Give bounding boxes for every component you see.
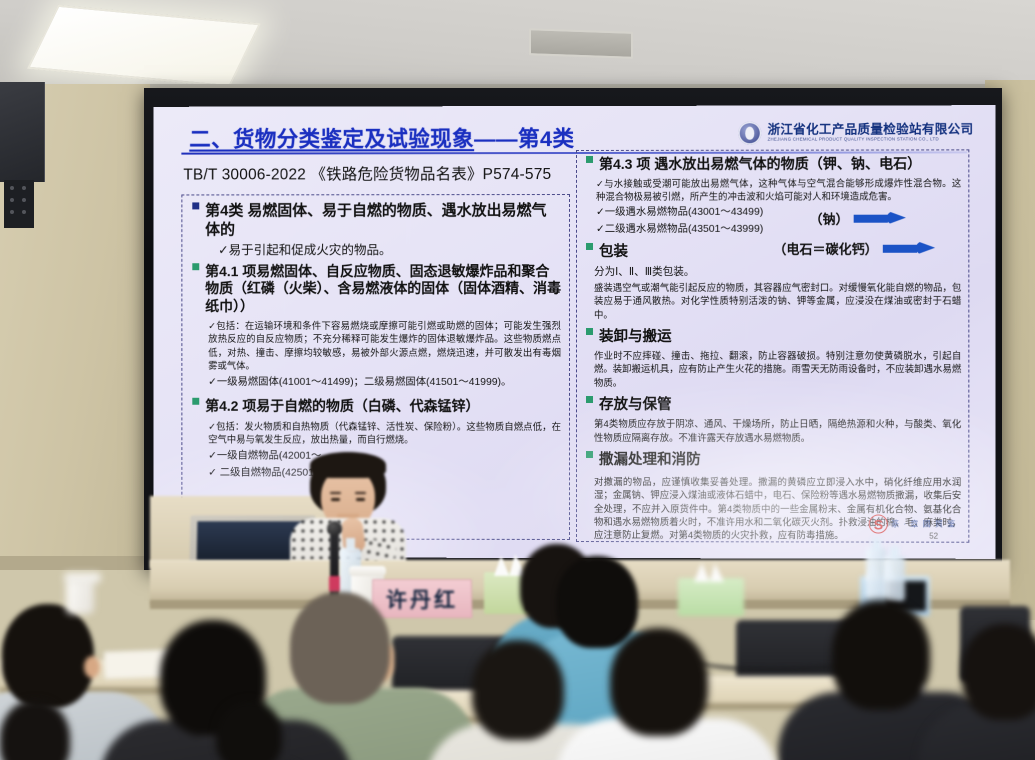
handling-heading: 装卸与搬运: [599, 328, 672, 346]
square-bullet-icon: [192, 263, 199, 270]
item41-ranges: ✓一级易燃固体(41001～41499)；二级易燃固体(41501～41999)…: [208, 375, 561, 391]
square-bullet-icon: [586, 243, 593, 250]
item43-range-grade2: ✓二级遇水易燃物品(43501～43999): [596, 221, 961, 237]
item41-heading: 第4.1 项易燃固体、自反应物质、固态退敏爆炸品和聚合物质（红磷（火柴）、含易燃…: [205, 263, 561, 316]
standard-reference-line: TB/T 30006-2022 《铁路危险货物品名表》P574-575: [183, 162, 551, 184]
carbide-arrow-callout: （电石＝碳化钙）: [773, 239, 935, 258]
square-bullet-icon: [192, 398, 199, 405]
nameplate-text: 许丹红: [386, 584, 458, 614]
sodium-arrow-label: （钠）: [809, 209, 848, 228]
slide-title: 二、货物分类鉴定及试验现象——第4类: [189, 122, 574, 154]
item43-heading: 第4.3 项 遇水放出易燃气体的物质（钾、钠、电石）: [599, 155, 921, 173]
wall-speaker-icon: [0, 82, 45, 182]
speaker-mount-bracket: [4, 180, 34, 228]
class4-heading-row: 第4类 易燃固体、易于自燃的物质、遇水放出易燃气体的: [192, 202, 561, 239]
slide-page-number: 52: [929, 532, 938, 541]
right-arrow-icon: [854, 211, 906, 226]
logo-emblem-icon: [738, 122, 761, 145]
square-bullet-icon: [586, 451, 593, 458]
class4-heading: 第4类 易燃固体、易于自燃的物质、遇水放出易燃气体的: [205, 202, 561, 239]
sodium-arrow-callout: （钠）: [809, 209, 905, 228]
item43-detail: ✓与水接触或受潮可能放出易燃气体，这种气体与空气混合能够形成爆炸性混合物。这种混…: [596, 176, 961, 203]
storage-heading-row: 存放与保管: [586, 396, 961, 414]
presenter-fringe: [310, 452, 386, 478]
spill-heading: 撒漏处理和消防: [599, 451, 701, 469]
right-arrow-icon: [883, 241, 935, 256]
red-seal-stamp: S 篆 · 章 國 貿 鉴: [869, 514, 956, 533]
logo-name-cn: 浙江省化工产品质量检验站有限公司: [768, 124, 974, 138]
item41-heading-row: 第4.1 项易燃固体、自反应物质、固态退敏爆炸品和聚合物质（红磷（火柴）、含易燃…: [192, 263, 561, 316]
presentation-slide: 二、货物分类鉴定及试验现象——第4类 浙江省化工产品质量检验站有限公司 ZHEJ…: [154, 105, 996, 559]
tea-cup: [66, 580, 94, 614]
handling-heading-row: 装卸与搬运: [586, 328, 961, 346]
packaging-heading: 包装: [599, 243, 628, 261]
tissue-box: [678, 578, 744, 616]
handling-text: 作业时不应摔碰、撞击、拖拉、翻滚，防止容器破损。特别注意勿使黄磷脱水，引起自燃。…: [594, 349, 961, 389]
seal-text: 篆 · 章 國 貿 鉴: [891, 519, 956, 530]
item43-range-grade1: ✓一级遇水易燃物品(43001～43499): [596, 205, 961, 221]
packaging-line2: 盛装遇空气或潮气能引起反应的物质，其容器应气密封口。对缓慢氧化能自燃的物品，包装…: [594, 281, 961, 321]
square-bullet-icon: [586, 328, 593, 335]
slide-title-main: 二、货物分类鉴定及试验现象: [189, 127, 474, 151]
ceiling-air-vent: [529, 28, 633, 59]
classroom-scene: 二、货物分类鉴定及试验现象——第4类 浙江省化工产品质量检验站有限公司 ZHEJ…: [0, 0, 1035, 760]
storage-heading: 存放与保管: [599, 396, 672, 414]
spill-heading-row: 撒漏处理和消防: [586, 451, 961, 470]
logo-name-en: ZHEJIANG CHEMICAL PRODUCT QUALITY INSPEC…: [768, 137, 974, 143]
item43-heading-row: 第4.3 项 遇水放出易燃气体的物质（钾、钠、电石）: [586, 155, 961, 173]
item42-heading: 第4.2 项易于自燃的物质（白磷、代森锰锌）: [205, 398, 479, 416]
slide-right-column: 第4.3 项 遇水放出易燃气体的物质（钾、钠、电石） ✓与水接触或受潮可能放出易…: [576, 149, 969, 542]
item42-detail: ✓包括：发火物质和自热物质（代森锰锌、活性炭、保险粉）。这些物质自燃点低，在空气…: [208, 419, 561, 446]
water-bottle: [884, 556, 905, 602]
packaging-line1: 分为Ⅰ、Ⅱ、Ⅲ类包装。: [594, 264, 961, 280]
item41-detail: ✓包括：在运输环境和条件下容易燃烧或摩擦可能引燃或助燃的固体；可能发生强烈放热反…: [208, 319, 561, 372]
company-logo: 浙江省化工产品质量检验站有限公司 ZHEJIANG CHEMICAL PRODU…: [738, 121, 973, 144]
square-bullet-icon: [586, 156, 593, 163]
nameplate: 许丹红: [372, 579, 473, 618]
seal-icon: S: [869, 514, 888, 533]
square-bullet-icon: [586, 396, 593, 403]
item42-heading-row: 第4.2 项易于自燃的物质（白磷、代森锰锌）: [192, 398, 561, 416]
carbide-arrow-label: （电石＝碳化钙）: [773, 239, 877, 258]
slide-title-suffix: ——第4类: [474, 127, 574, 151]
class4-check-line: ✓易于引起和促成火灾的物品。: [218, 242, 561, 259]
square-bullet-icon: [192, 202, 199, 209]
storage-text: 第4类物质应存放于阴凉、通风、干燥场所，防止日晒，隔绝热源和火种，与酸类、氧化性…: [594, 417, 961, 444]
projection-screen: 二、货物分类鉴定及试验现象——第4类 浙江省化工产品质量检验站有限公司 ZHEJ…: [154, 105, 996, 559]
